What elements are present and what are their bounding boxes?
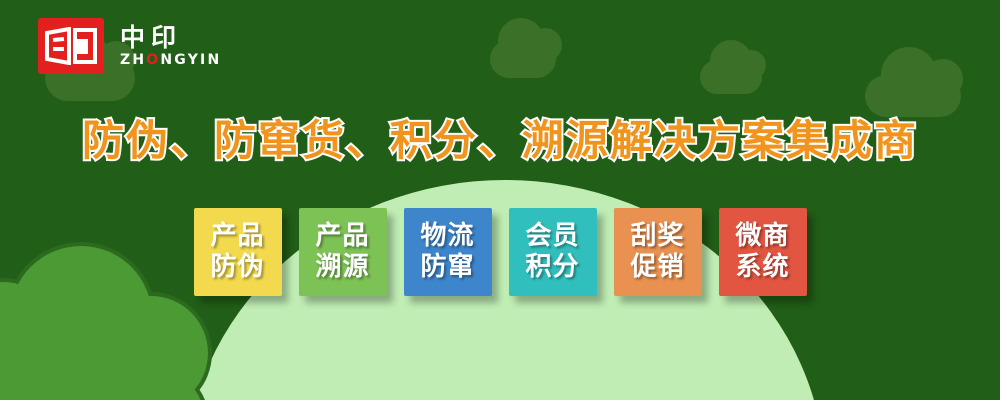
category-button-scratch-promotion[interactable]: 刮奖 促销	[614, 208, 702, 296]
brand-chinese-name: 中印	[120, 25, 221, 50]
category-button-line1: 产品	[210, 221, 264, 252]
category-button-row: 产品 防伪 产品 溯源 物流 防窜 会员 积分 刮奖 促销 微商 系统	[0, 208, 1000, 296]
category-button-line2: 防伪	[210, 252, 264, 283]
promo-banner: 中印 ZHONGYIN 防伪、防窜货、积分、溯源解决方案集成商 产品 防伪 产品…	[0, 0, 1000, 400]
category-button-member-points[interactable]: 会员 积分	[509, 208, 597, 296]
brand-english-name: ZHONGYIN	[120, 53, 221, 67]
cloud-shape-4	[865, 75, 961, 117]
category-button-line1: 物流	[420, 221, 474, 252]
page-title: 防伪、防窜货、积分、溯源解决方案集成商	[0, 118, 1000, 164]
category-button-line2: 防窜	[420, 252, 474, 283]
category-button-wechat-business-system[interactable]: 微商 系统	[719, 208, 807, 296]
brand-english-part-1: ZH	[120, 52, 146, 68]
category-button-line2: 系统	[735, 252, 789, 283]
brand-text: 中印 ZHONGYIN	[120, 25, 221, 67]
cloud-shape-2	[490, 40, 556, 78]
category-button-line1: 会员	[525, 221, 579, 252]
category-button-line1: 微商	[735, 221, 789, 252]
category-button-product-anticounterfeit[interactable]: 产品 防伪	[194, 208, 282, 296]
category-button-line1: 刮奖	[630, 221, 684, 252]
brand-logo[interactable]: 中印 ZHONGYIN	[38, 18, 221, 74]
category-button-line2: 积分	[525, 252, 579, 283]
category-button-line2: 溯源	[315, 252, 369, 283]
cloud-shape-3	[700, 60, 762, 94]
brand-english-part-2: NGYIN	[160, 52, 221, 68]
book-logo-icon	[38, 18, 104, 74]
brand-english-accent: O	[146, 52, 160, 68]
category-button-product-traceability[interactable]: 产品 溯源	[299, 208, 387, 296]
category-button-line1: 产品	[315, 221, 369, 252]
category-button-line2: 促销	[630, 252, 684, 283]
category-button-logistics-anti-diversion[interactable]: 物流 防窜	[404, 208, 492, 296]
